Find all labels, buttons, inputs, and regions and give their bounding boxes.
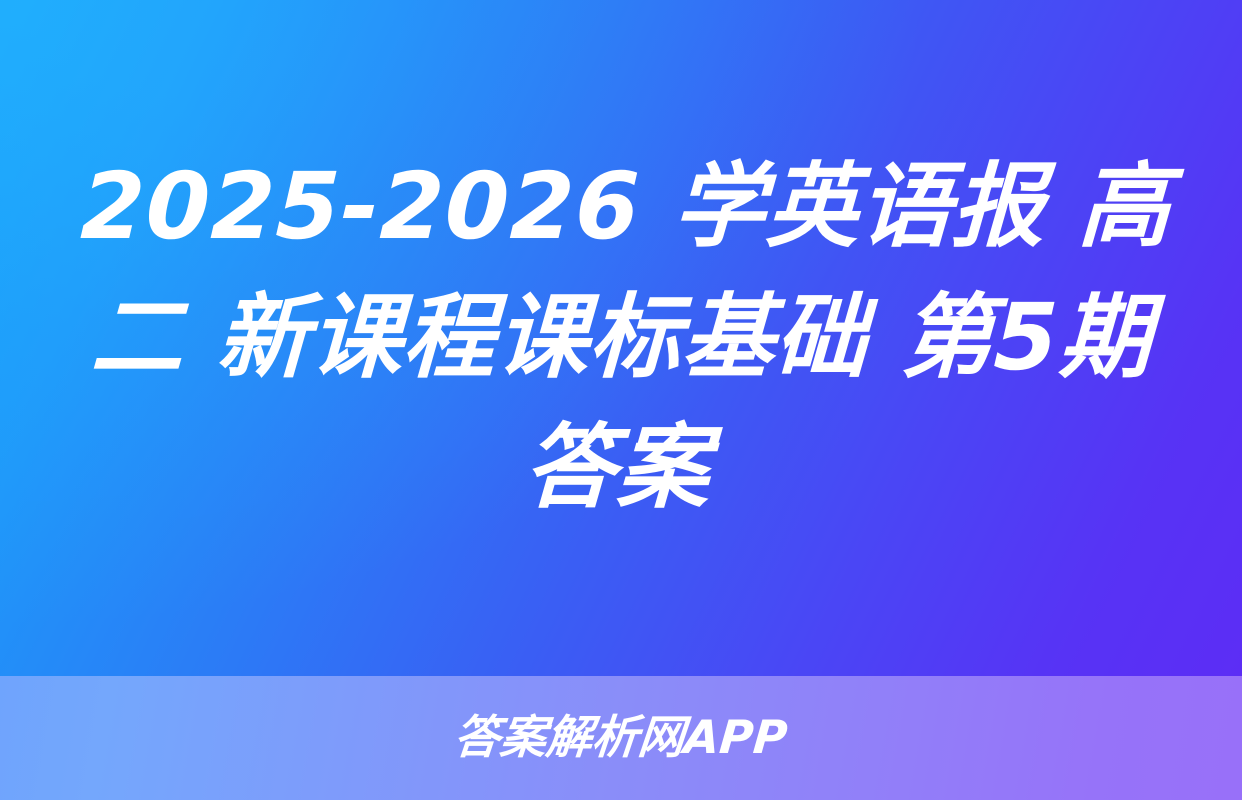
footer-brand-band: 答案解析网APP (0, 676, 1242, 800)
app-brand-label: 答案解析网APP (452, 714, 789, 762)
title-container: 2025-2026 学英语报 高二 新课程课标基础 第5期答案 (0, 0, 1242, 676)
page-title: 2025-2026 学英语报 高二 新课程课标基础 第5期答案 (52, 142, 1191, 534)
cover-card: 2025-2026 学英语报 高二 新课程课标基础 第5期答案 答案解析网APP (0, 0, 1242, 800)
